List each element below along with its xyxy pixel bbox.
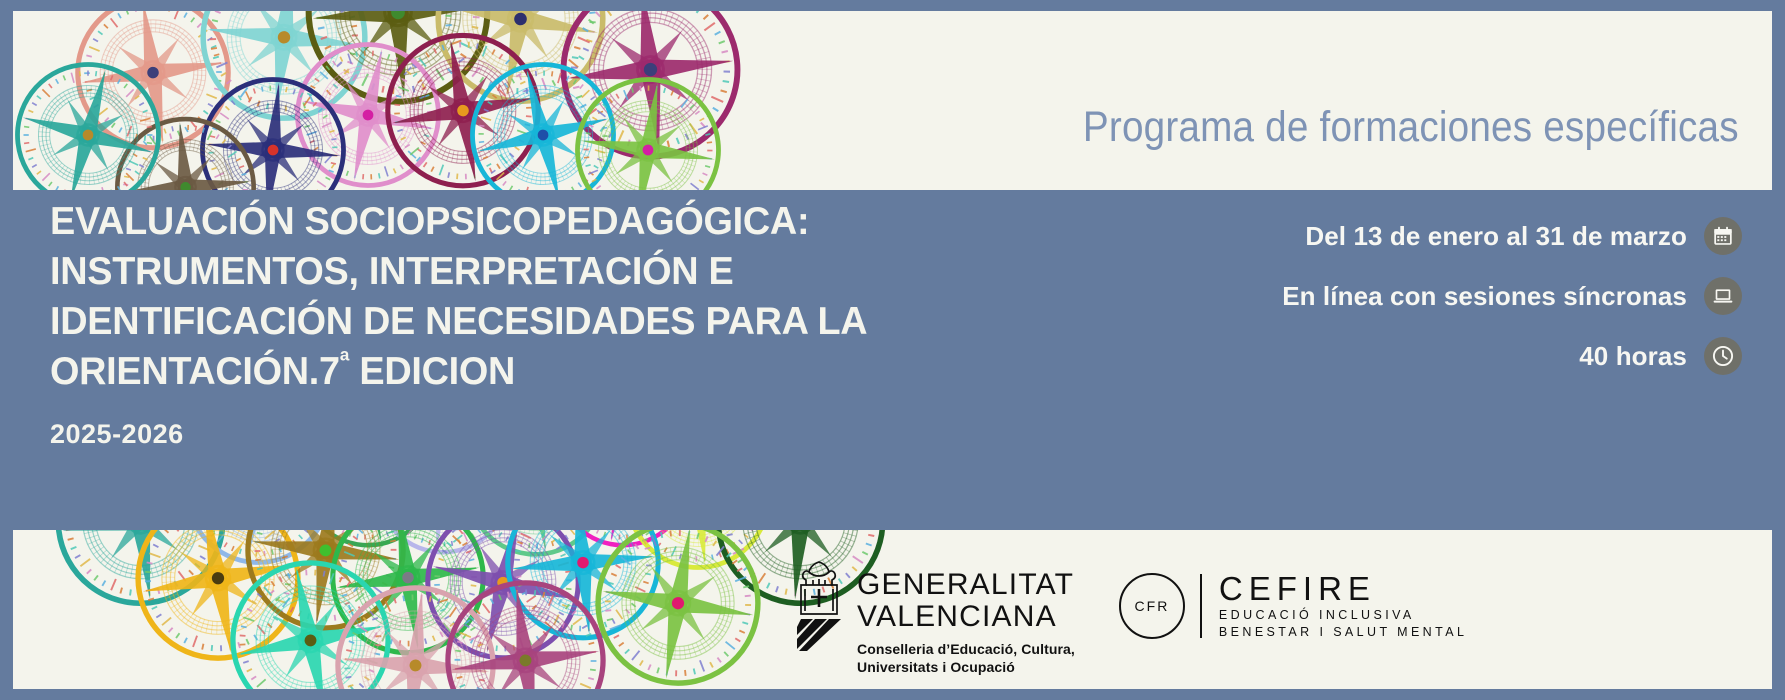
program-label: Programa de formaciones específicas — [1083, 103, 1739, 152]
academic-year: 2025-2026 — [50, 419, 910, 450]
title-line-4: ORIENTACIÓN.7ª EDICION — [50, 347, 884, 397]
compass-rose — [432, 559, 618, 689]
conselleria-line-1: Conselleria d’Educació, Cultura, — [857, 640, 1075, 658]
compass-rose — [296, 11, 500, 125]
cefire-logo: CFR CEFIRE EDUCACIÓ INCLUSIVA BENESTAR I… — [1119, 559, 1467, 641]
info-label-hours: 40 horas — [1579, 341, 1687, 372]
edition-suffix: EDICION — [349, 350, 515, 393]
title-block: EVALUACIÓN SOCIOPSICOPEDAGÓGICA: INSTRUM… — [50, 197, 910, 450]
compass-rose — [369, 11, 558, 213]
compass-rose — [548, 11, 754, 182]
info-label-modality: En línea con sesiones síncronas — [1282, 281, 1687, 312]
laptop-icon — [1704, 277, 1742, 315]
conselleria-line-2: Universitats i Ocupació — [857, 658, 1075, 676]
compass-rose — [212, 534, 409, 689]
title-line-3: IDENTIFICACIÓN DE NECESIDADES PARA LA — [50, 297, 884, 347]
cefire-sub-line-1: EDUCACIÓ INCLUSIVA — [1219, 607, 1467, 624]
info-label-dates: Del 13 de enero al 31 de marzo — [1305, 221, 1687, 252]
info-row-dates: Del 13 de enero al 31 de marzo — [1305, 217, 1742, 255]
cefire-name: CEFIRE — [1219, 571, 1467, 607]
title-line-1: EVALUACIÓN SOCIOPSICOPEDAGÓGICA: — [50, 197, 884, 247]
info-row-modality: En línea con sesiones síncronas — [1282, 277, 1742, 315]
title-line-2: INSTRUMENTOS, INTERPRETACIÓN E — [50, 247, 884, 297]
generalitat-valenciana-logo: GENERALITAT VALENCIANA Conselleria d’Edu… — [793, 559, 1075, 676]
compass-rose — [277, 17, 459, 213]
clock-icon — [1704, 337, 1742, 375]
generalitat-text-block: GENERALITAT VALENCIANA Conselleria d’Edu… — [857, 559, 1075, 676]
cfr-label: CFR — [1135, 598, 1170, 614]
cefire-text-block: CEFIRE EDUCACIÓ INCLUSIVA BENESTAR I SAL… — [1217, 571, 1467, 641]
compass-rose — [188, 11, 379, 142]
info-row-hours: 40 horas — [1579, 337, 1742, 375]
generalitat-name-line-2: VALENCIANA — [857, 601, 1075, 633]
cfr-circle-icon: CFR — [1119, 573, 1185, 639]
cefire-sub-line-2: BENESTAR I SALUT MENTAL — [1219, 624, 1467, 641]
cefire-divider — [1200, 574, 1202, 638]
banner-canvas: Programa de formaciones específicas EVAL… — [13, 11, 1772, 689]
generalitat-name-line-1: GENERALITAT — [857, 569, 1075, 601]
course-banner: Programa de formaciones específicas EVAL… — [0, 0, 1785, 700]
course-info-list: Del 13 de enero al 31 de marzo — [1282, 217, 1742, 375]
footer-logos: GENERALITAT VALENCIANA Conselleria d’Edu… — [793, 559, 1467, 676]
compass-rose — [61, 11, 244, 172]
title-line-4-text: ORIENTACIÓN.7 — [50, 350, 340, 393]
compass-rose — [417, 11, 623, 131]
valencian-shield-icon — [793, 559, 845, 651]
compass-rose — [325, 566, 505, 689]
calendar-icon — [1704, 217, 1742, 255]
